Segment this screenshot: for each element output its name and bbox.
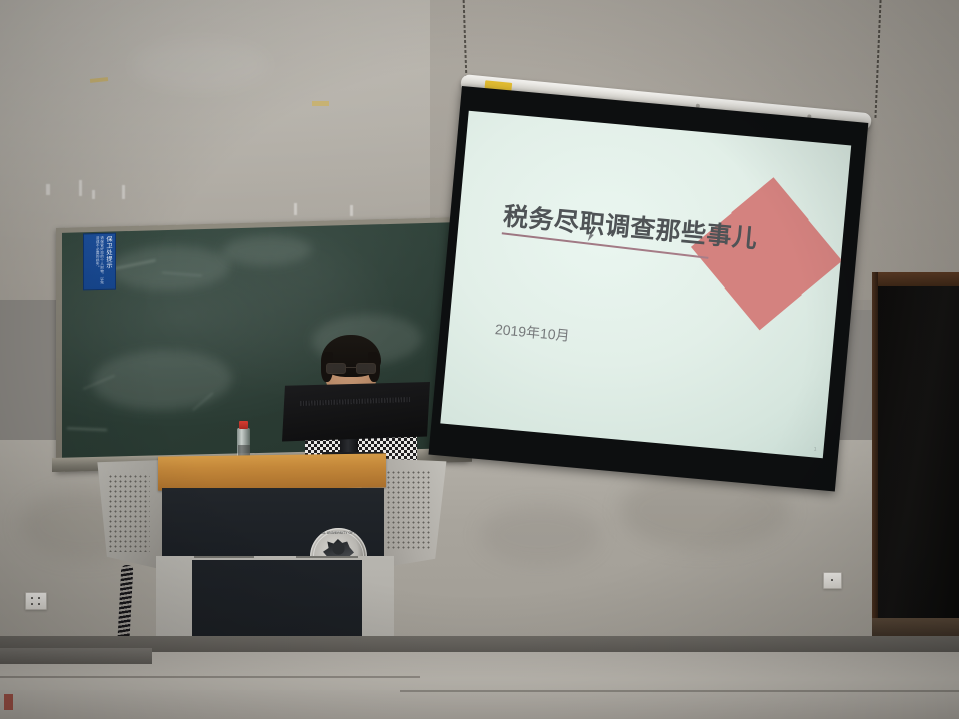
speaker-grille-holes: [108, 474, 150, 552]
monitor-vent: [300, 397, 410, 406]
platform-seam: [0, 676, 420, 678]
tape-scuff: [79, 180, 82, 196]
lecture-hall-scene: 保卫处提示 请保管好您的个人财物，以免造成不必要的损失。 税务尽职调查那些事儿 …: [0, 0, 959, 719]
tape-scuff: [46, 184, 50, 195]
lectern-seam: [194, 556, 254, 558]
security-notice-title: 保卫处提示: [105, 236, 112, 269]
eyeglass-lens-left: [326, 363, 346, 374]
platform-front-edge: [0, 690, 959, 719]
tape-scuff: [122, 185, 125, 199]
chalk-smudge: [92, 348, 232, 412]
projection-screen[interactable]: 税务尽职调查那些事儿 2019年10月 1: [428, 86, 868, 491]
lectern-wooden-top: [158, 453, 386, 490]
tape-mark: [312, 101, 329, 106]
outlet-hole: [38, 597, 40, 599]
right-doorway[interactable]: [876, 282, 959, 632]
emblem-english-text: CENTRAL UNIVERSITY OF FINANCE AND ECONOM…: [310, 531, 367, 535]
tape-scuff: [294, 203, 297, 215]
eyeglasses-icon: [325, 363, 377, 375]
outlet-hole: [31, 597, 33, 599]
outlet-hole: [38, 603, 40, 605]
platform-seam: [400, 690, 959, 692]
chalk-streak: [67, 427, 107, 430]
lectern-left-speaker-panel: [96, 460, 164, 570]
tape-scuff: [350, 205, 353, 216]
slide-page-number: 1: [813, 446, 816, 452]
speaker-grille-holes: [386, 470, 430, 550]
security-notice-sign: 保卫处提示 请保管好您的个人财物，以免造成不必要的损失。: [83, 233, 116, 291]
security-notice-body: 请保管好您的个人财物，以免造成不必要的损失。: [96, 236, 105, 286]
slide-canvas[interactable]: 税务尽职调查那些事儿 2019年10月 1: [440, 111, 851, 459]
wall-outlet-left[interactable]: [25, 592, 47, 610]
slide-subtitle: 2019年10月: [494, 319, 570, 346]
outlet-hole: [31, 603, 33, 605]
platform-left-step: [0, 648, 152, 664]
tape-scuff: [92, 190, 95, 199]
eyeglass-lens-right: [356, 363, 376, 374]
monitor-back-panel: [282, 382, 430, 444]
floor-object: [4, 694, 13, 710]
wall-switch-right[interactable]: [823, 572, 842, 589]
chalk-smudge: [110, 244, 230, 291]
bottle-cap: [239, 421, 248, 429]
mouse-cursor-icon: [588, 234, 596, 243]
doorway-jamb: [872, 272, 878, 634]
chalk-smudge: [222, 234, 312, 266]
lectern-seam: [296, 556, 358, 558]
four-diamond-logo: [692, 181, 839, 382]
switch-hole: [831, 579, 833, 581]
eyeglass-bridge: [346, 367, 356, 368]
doorway-lintel: [872, 272, 959, 286]
lectern-front-panel: CENTRAL UNIVERSITY OF FINANCE AND ECONOM…: [162, 488, 384, 556]
